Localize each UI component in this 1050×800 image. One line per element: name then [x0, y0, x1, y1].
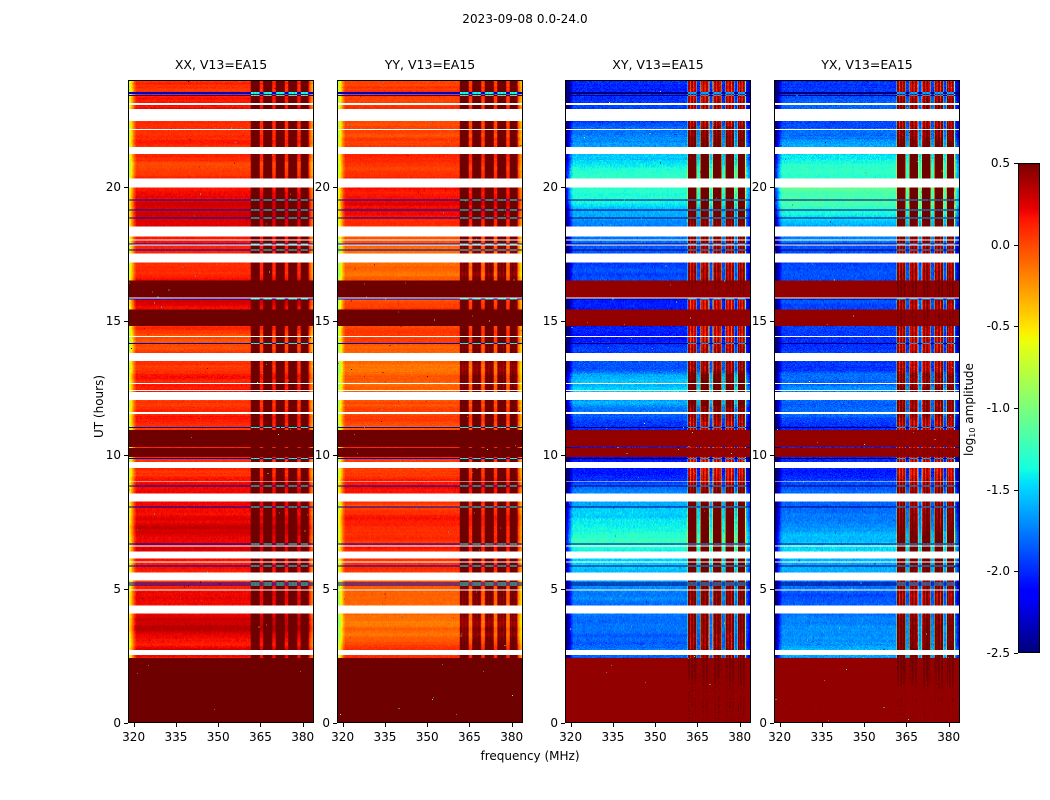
y-tick-label: 20 — [297, 182, 330, 192]
x-tick-mark — [655, 723, 656, 727]
x-tick-label: 380 — [927, 731, 971, 743]
y-tick-mark — [770, 723, 774, 724]
x-tick-mark — [906, 723, 907, 727]
figure-canvas: 2023-09-08 0.0-24.0 XX, V13=EA15 YY, V13… — [0, 0, 1050, 800]
y-tick-mark — [124, 187, 128, 188]
x-tick-mark — [822, 723, 823, 727]
y-tick-label: 0 — [88, 718, 121, 728]
y-tick-label: 15 — [734, 316, 767, 326]
x-tick-label: 335 — [154, 731, 198, 743]
y-tick-mark — [333, 589, 337, 590]
y-tick-mark — [561, 589, 565, 590]
x-tick-mark — [469, 723, 470, 727]
x-axis-label: frequency (MHz) — [330, 749, 730, 763]
x-tick-label: 365 — [447, 731, 491, 743]
x-tick-mark — [176, 723, 177, 727]
y-tick-mark — [124, 589, 128, 590]
x-tick-label: 320 — [112, 731, 156, 743]
y-tick-label: 20 — [734, 182, 767, 192]
colorbar-tick-label: -1.5 — [968, 485, 1010, 495]
x-tick-label: 350 — [633, 731, 677, 743]
x-tick-label: 320 — [549, 731, 593, 743]
colorbar-tick-mark — [1014, 245, 1018, 246]
y-tick-label: 5 — [525, 584, 558, 594]
x-tick-label: 335 — [363, 731, 407, 743]
x-tick-label: 335 — [800, 731, 844, 743]
colorbar-tick-label: -2.0 — [968, 566, 1010, 576]
waterfall-panel-xx[interactable] — [128, 80, 314, 723]
x-tick-mark — [385, 723, 386, 727]
colorbar-tick-mark — [1014, 326, 1018, 327]
colorbar-tick-label: -0.5 — [968, 321, 1010, 331]
y-tick-label: 20 — [525, 182, 558, 192]
x-tick-label: 365 — [675, 731, 719, 743]
y-tick-mark — [333, 723, 337, 724]
x-tick-mark — [427, 723, 428, 727]
colorbar-tick-mark — [1014, 571, 1018, 572]
x-tick-label: 320 — [321, 731, 365, 743]
x-tick-label: 350 — [842, 731, 886, 743]
panel-title-xy: XY, V13=EA15 — [565, 57, 751, 75]
colorbar-tick-label: 0.0 — [968, 240, 1010, 250]
y-tick-label: 15 — [88, 316, 121, 326]
y-tick-label: 10 — [297, 450, 330, 460]
x-tick-mark — [571, 723, 572, 727]
y-axis-label: UT (hours) — [92, 374, 106, 437]
colorbar-tick-mark — [1014, 653, 1018, 654]
y-tick-label: 10 — [734, 450, 767, 460]
y-tick-label: 15 — [297, 316, 330, 326]
panel-title-yy: YY, V13=EA15 — [337, 57, 523, 75]
x-tick-label: 365 — [884, 731, 928, 743]
y-tick-mark — [124, 723, 128, 724]
waterfall-panel-xy[interactable] — [565, 80, 751, 723]
waterfall-panel-yy[interactable] — [337, 80, 523, 723]
x-tick-label: 365 — [238, 731, 282, 743]
colorbar-tick-mark — [1014, 163, 1018, 164]
x-tick-mark — [343, 723, 344, 727]
colorbar-tick-mark — [1014, 490, 1018, 491]
y-tick-mark — [333, 455, 337, 456]
y-tick-mark — [561, 723, 565, 724]
y-tick-label: 20 — [88, 182, 121, 192]
x-tick-mark — [780, 723, 781, 727]
colorbar-tick-label: -1.0 — [968, 403, 1010, 413]
y-tick-label: 10 — [88, 450, 121, 460]
x-tick-mark — [864, 723, 865, 727]
panel-title-yx: YX, V13=EA15 — [774, 57, 960, 75]
panel-title-xx: XX, V13=EA15 — [128, 57, 314, 75]
y-tick-label: 0 — [734, 718, 767, 728]
colorbar-tick-label: -2.5 — [968, 648, 1010, 658]
y-tick-label: 0 — [525, 718, 558, 728]
x-tick-mark — [697, 723, 698, 727]
colorbar-tick-label: 0.5 — [968, 158, 1010, 168]
y-tick-mark — [561, 187, 565, 188]
colorbar-label-sub: 10 — [968, 428, 977, 438]
y-tick-mark — [561, 321, 565, 322]
y-tick-label: 5 — [88, 584, 121, 594]
y-tick-label: 15 — [525, 316, 558, 326]
colorbar[interactable] — [1018, 163, 1040, 653]
x-tick-label: 350 — [405, 731, 449, 743]
y-tick-label: 0 — [297, 718, 330, 728]
y-tick-mark — [770, 321, 774, 322]
y-tick-mark — [770, 455, 774, 456]
x-tick-mark — [260, 723, 261, 727]
x-tick-label: 380 — [718, 731, 762, 743]
x-tick-label: 380 — [490, 731, 534, 743]
x-tick-mark — [949, 723, 950, 727]
y-tick-mark — [124, 455, 128, 456]
y-tick-mark — [124, 321, 128, 322]
waterfall-panel-yx[interactable] — [774, 80, 960, 723]
y-tick-label: 5 — [734, 584, 767, 594]
figure-suptitle: 2023-09-08 0.0-24.0 — [0, 12, 1050, 26]
x-tick-label: 350 — [196, 731, 240, 743]
x-tick-mark — [512, 723, 513, 727]
x-tick-label: 335 — [591, 731, 635, 743]
y-tick-mark — [561, 455, 565, 456]
colorbar-label-main: log — [962, 438, 976, 456]
y-tick-mark — [333, 321, 337, 322]
y-tick-mark — [770, 589, 774, 590]
y-tick-label: 10 — [525, 450, 558, 460]
colorbar-label-tail: amplitude — [962, 363, 976, 427]
y-tick-mark — [333, 187, 337, 188]
y-tick-mark — [770, 187, 774, 188]
x-tick-label: 380 — [281, 731, 325, 743]
y-tick-label: 5 — [297, 584, 330, 594]
colorbar-tick-mark — [1014, 408, 1018, 409]
x-tick-label: 320 — [758, 731, 802, 743]
x-tick-mark — [134, 723, 135, 727]
x-tick-mark — [613, 723, 614, 727]
x-tick-mark — [218, 723, 219, 727]
